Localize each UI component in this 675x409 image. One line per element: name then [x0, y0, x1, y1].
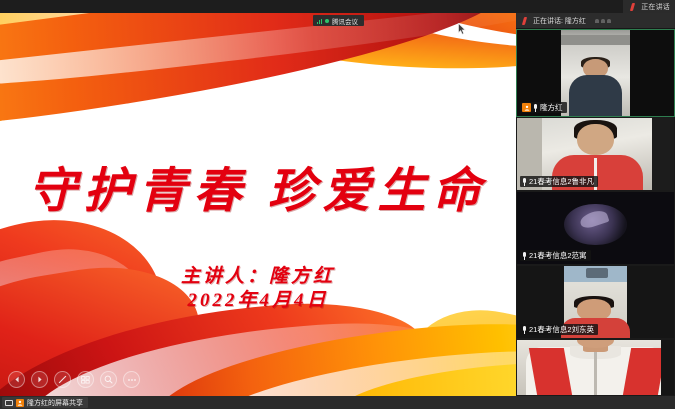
speaking-label: 正在讲话 — [641, 2, 670, 12]
participant-name-chip: 21春考信息2范寓 — [520, 250, 591, 261]
audio-wave-icon — [595, 19, 611, 23]
decor-top-white-ribbon — [0, 13, 466, 137]
mouse-pointer-icon — [458, 22, 466, 34]
participant-name-chip: 隆方红 — [520, 102, 567, 113]
microphone-icon — [522, 252, 527, 260]
host-person-icon — [16, 399, 24, 407]
decor-top-highlight — [0, 13, 516, 92]
more-options-button[interactable] — [123, 371, 140, 388]
participant-name-chip: 21春考信息2刘东英 — [520, 324, 598, 335]
participant-tiles: 隆方红 21春考信息2鲁非凡 — [516, 29, 675, 396]
monitor-icon — [5, 400, 13, 406]
slide-subtitle: 主讲人：隆方红 2022年4月4日 — [0, 265, 516, 313]
speaker-red-icon — [522, 17, 528, 25]
screen-share-label: 隆方红的屏幕共享 — [27, 398, 83, 408]
tencent-meeting-label: 腾讯会议 — [332, 16, 358, 26]
previous-slide-button[interactable] — [8, 371, 25, 388]
participant-name: 隆方红 — [540, 102, 563, 113]
slide-date-line: 2022年4月4日 — [0, 289, 516, 313]
decor-top-yellow-ribbon — [0, 13, 417, 141]
pen-tool-button[interactable] — [54, 371, 71, 388]
participant-video — [517, 340, 674, 395]
microphone-icon — [522, 326, 527, 334]
microphone-icon — [533, 104, 538, 112]
shared-screen-area[interactable]: 守护青春 珍爱生命 主讲人：隆方红 2022年4月4日 — [0, 13, 516, 396]
microphone-icon — [522, 178, 527, 186]
meeting-screen: 正在讲话 守护青春 珍爱生命 主讲人：隆方红 2022年4月4日 — [0, 0, 675, 409]
participant-tile[interactable] — [516, 339, 675, 396]
participant-tile[interactable]: 隆方红 — [516, 29, 675, 117]
screen-share-indicator[interactable]: 隆方红的屏幕共享 — [2, 397, 88, 408]
speaking-indicator[interactable]: 正在讲话 — [623, 0, 675, 13]
tencent-meeting-pill[interactable]: 腾讯会议 — [313, 15, 364, 26]
participant-name: 21春考信息2鲁非凡 — [529, 176, 594, 187]
all-slides-button[interactable] — [77, 371, 94, 388]
signal-bars-icon — [317, 18, 322, 24]
participant-name-chip: 21春考信息2鲁非凡 — [520, 176, 598, 187]
host-person-icon — [522, 103, 531, 112]
decor-orange-wave-highlight — [187, 341, 516, 396]
participant-tile[interactable]: 21春考信息2范寓 — [516, 191, 675, 265]
active-speaker-label: 正在讲话: 隆方红 — [533, 16, 586, 26]
next-slide-button[interactable] — [31, 371, 48, 388]
decor-orange-wave — [146, 310, 516, 396]
participant-tile[interactable]: 21春考信息2刘东英 — [516, 265, 675, 339]
participant-name: 21春考信息2范寓 — [529, 250, 587, 261]
os-bottom-bar: 隆方红的屏幕共享 — [0, 396, 675, 409]
active-speaker-header: 正在讲话: 隆方红 — [516, 13, 675, 29]
green-dot-icon — [325, 19, 329, 23]
slide-presenter-line: 主讲人：隆方红 — [0, 265, 516, 289]
speaker-red-icon — [630, 3, 637, 11]
os-top-bar: 正在讲话 — [0, 0, 675, 13]
slide-title: 守护青春 珍爱生命 — [0, 151, 516, 221]
participant-name: 21春考信息2刘东英 — [529, 324, 594, 335]
presenter-toolbar — [8, 371, 140, 388]
presentation-slide: 守护青春 珍爱生命 主讲人：隆方红 2022年4月4日 — [0, 13, 516, 396]
participant-tile[interactable]: 21春考信息2鲁非凡 — [516, 117, 675, 191]
decor-top-red-ribbon — [0, 13, 516, 136]
decor-yellow-tail — [328, 356, 516, 396]
participant-strip: 正在讲话: 隆方红 — [516, 13, 675, 396]
zoom-button[interactable] — [100, 371, 117, 388]
